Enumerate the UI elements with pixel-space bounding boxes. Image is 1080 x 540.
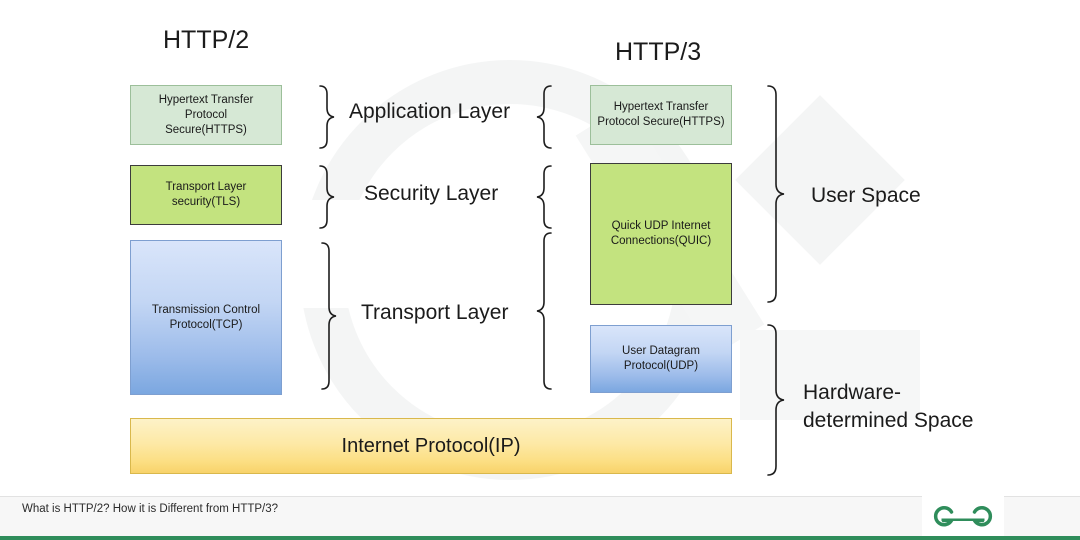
http2-tcp-line2: Protocol(TCP) [152, 318, 260, 333]
http2-https-line2: Secure(HTTPS) [137, 123, 275, 138]
http3-box-udp: User Datagram Protocol(UDP) [590, 325, 732, 393]
column-title-http2: HTTP/2 [163, 26, 249, 55]
http3-https-line1: Hypertext Transfer [597, 100, 724, 115]
http2-tcp-line1: Transmission Control [152, 303, 260, 318]
brace-right-hardware-space [768, 325, 784, 475]
http2-box-tcp: Transmission Control Protocol(TCP) [130, 240, 282, 395]
geeksforgeeks-logo [928, 501, 998, 531]
ip-label: Internet Protocol(IP) [342, 439, 521, 454]
diagram-canvas: HTTP/2 HTTP/3 Hypertext Transfer Protoco… [0, 0, 1080, 540]
http3-box-quic: Quick UDP Internet Connections(QUIC) [590, 163, 732, 305]
brace-left-transport [322, 243, 336, 389]
http2-tls-line2: security(TLS) [166, 195, 247, 210]
http2-box-https: Hypertext Transfer Protocol Secure(HTTPS… [130, 85, 282, 145]
brace-mid-application [537, 86, 551, 148]
http3-quic-line1: Quick UDP Internet [611, 219, 711, 234]
http3-box-https: Hypertext Transfer Protocol Secure(HTTPS… [590, 85, 732, 145]
watermark-shape-a [300, 200, 550, 308]
brace-right-user-space [768, 86, 784, 302]
space-label-hardware-line2: determined Space [803, 407, 1003, 435]
space-label-user-space: User Space [811, 184, 921, 208]
http3-https-line2: Protocol Secure(HTTPS) [597, 115, 724, 130]
http2-tls-line1: Transport Layer [166, 180, 247, 195]
layer-label-application: Application Layer [349, 100, 510, 124]
space-label-hardware-line1: Hardware- [803, 379, 1003, 407]
space-label-hardware: Hardware- determined Space [803, 379, 1003, 435]
brand-logo-container [922, 496, 1004, 536]
brace-mid-transport [537, 233, 551, 389]
footer-caption: What is HTTP/2? How it is Different from… [22, 503, 278, 515]
http3-udp-line1: User Datagram [622, 344, 700, 359]
column-title-http3: HTTP/3 [615, 38, 701, 67]
http3-quic-line2: Connections(QUIC) [611, 234, 711, 249]
layer-label-security: Security Layer [364, 182, 498, 206]
layer-label-transport: Transport Layer [361, 301, 508, 325]
brace-mid-security [537, 166, 551, 228]
http2-box-tls: Transport Layer security(TLS) [130, 165, 282, 225]
shared-box-internet-protocol: Internet Protocol(IP) [130, 418, 732, 474]
watermark-shape-c [735, 95, 905, 265]
brace-left-application [320, 86, 334, 148]
footer-bar: What is HTTP/2? How it is Different from… [0, 496, 1080, 540]
brace-left-security [320, 166, 334, 228]
http2-https-line1: Hypertext Transfer Protocol [137, 93, 275, 123]
footer-accent-strip [0, 536, 1080, 540]
http3-udp-line2: Protocol(UDP) [622, 359, 700, 374]
